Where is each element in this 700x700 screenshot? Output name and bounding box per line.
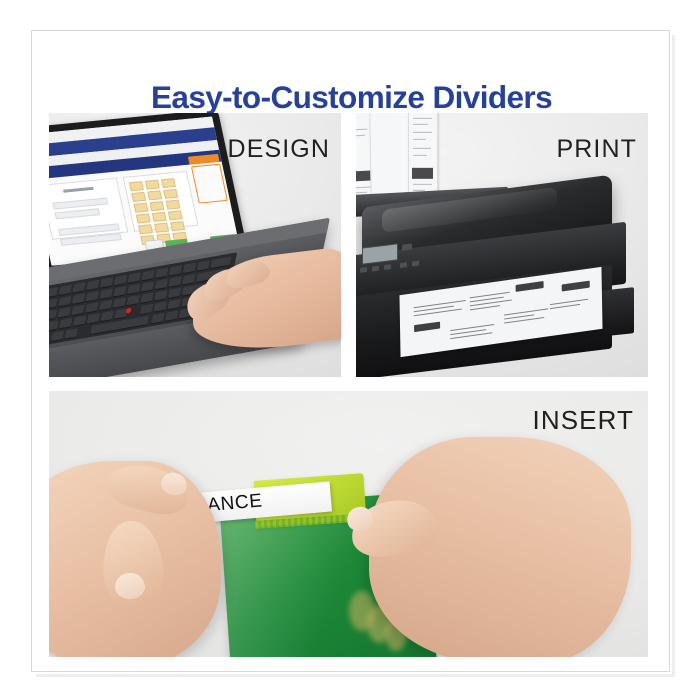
printer-lcd-display bbox=[362, 243, 398, 264]
label-cell bbox=[147, 190, 162, 200]
label-layout-grid bbox=[123, 171, 199, 232]
label-cell bbox=[161, 178, 176, 188]
app-form-title-bar bbox=[63, 187, 94, 193]
panel-design-label: DESIGN bbox=[228, 135, 330, 164]
label-cell bbox=[138, 224, 153, 234]
page-title: Easy-to-Customize Dividers bbox=[32, 79, 671, 116]
label-cell bbox=[129, 181, 144, 191]
printer-button[interactable] bbox=[412, 261, 419, 267]
hand-right bbox=[369, 437, 631, 657]
label-cell bbox=[168, 210, 183, 220]
preview-outline bbox=[191, 164, 228, 204]
panel-print: PRINT bbox=[356, 113, 648, 377]
label-cell bbox=[136, 213, 151, 223]
poster-canvas: Easy-to-Customize Dividers bbox=[0, 0, 700, 700]
label-cell bbox=[170, 221, 185, 231]
label-cell bbox=[150, 201, 165, 211]
panel-design: DESIGN bbox=[49, 113, 341, 377]
panel-insert-label: INSERT bbox=[533, 405, 634, 436]
label-cell bbox=[154, 223, 169, 233]
printer-button[interactable] bbox=[400, 262, 407, 268]
label-cell bbox=[133, 203, 148, 213]
label-cell bbox=[145, 180, 160, 190]
label-cell bbox=[166, 200, 181, 210]
printer-power-button[interactable] bbox=[402, 244, 412, 251]
poster-card: Easy-to-Customize Dividers bbox=[31, 30, 670, 672]
app-form-field bbox=[55, 208, 101, 219]
label-preview-panel bbox=[188, 154, 228, 204]
label-cell bbox=[152, 212, 167, 222]
label-cell bbox=[131, 192, 146, 202]
printer-button[interactable] bbox=[360, 267, 367, 273]
printer-button[interactable] bbox=[372, 266, 379, 272]
feed-sheet bbox=[408, 113, 438, 201]
printer-button[interactable] bbox=[384, 264, 391, 270]
app-form-card bbox=[49, 178, 128, 240]
panel-print-label: PRINT bbox=[557, 135, 638, 164]
panel-insert: FINANCE INSERT bbox=[49, 391, 648, 657]
app-form-field bbox=[52, 198, 108, 210]
fingernail-left bbox=[115, 573, 145, 599]
hand-left bbox=[49, 461, 221, 657]
label-cell bbox=[163, 189, 178, 199]
preview-header bbox=[188, 154, 220, 165]
